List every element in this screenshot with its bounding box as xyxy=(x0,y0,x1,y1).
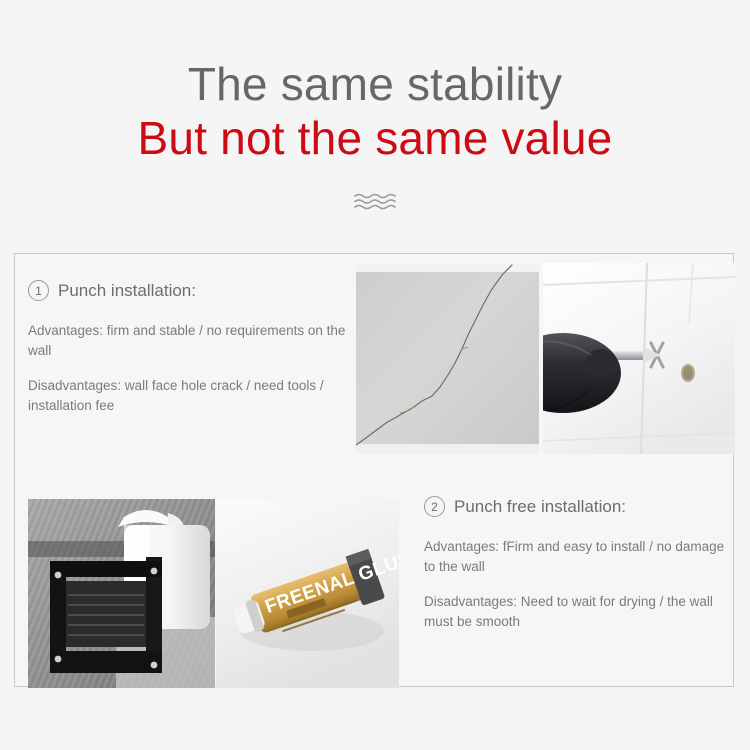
section-2-heading: 2 Punch free installation: xyxy=(424,496,734,517)
step-number-circle-1: 1 xyxy=(28,280,49,301)
section-2-text: 2 Punch free installation: Advantages: f… xyxy=(424,496,734,631)
drill-wall-photo xyxy=(543,263,735,454)
section-1-text: 1 Punch installation: Advantages: firm a… xyxy=(28,280,358,415)
shelf-product-photo xyxy=(28,499,215,688)
section-punch-installation: 1 Punch installation: Advantages: firm a… xyxy=(15,254,733,454)
headline-secondary: But not the same value xyxy=(0,114,750,164)
header: The same stability But not the same valu… xyxy=(0,0,750,221)
wave-divider-icon xyxy=(0,191,750,221)
comparison-card: 1 Punch installation: Advantages: firm a… xyxy=(14,253,734,687)
glue-tube-photo: FREENAL GLUE xyxy=(216,499,399,688)
section-2-title: Punch free installation: xyxy=(454,497,626,517)
section-2-disadvantages: Disadvantages: Need to wait for drying /… xyxy=(424,592,734,631)
headline-primary: The same stability xyxy=(0,60,750,110)
step-number-circle-2: 2 xyxy=(424,496,445,517)
section-punch-free-installation: FREENAL GLUE 2 Punch free installation: … xyxy=(15,486,733,686)
section-2-advantages: Advantages: fFirm and easy to install / … xyxy=(424,537,734,576)
cracked-wall-photo xyxy=(356,263,539,454)
section-1-disadvantages: Disadvantages: wall face hole crack / ne… xyxy=(28,376,358,415)
section-1-heading: 1 Punch installation: xyxy=(28,280,358,301)
section-1-advantages: Advantages: firm and stable / no require… xyxy=(28,321,358,360)
section-1-title: Punch installation: xyxy=(58,281,196,301)
